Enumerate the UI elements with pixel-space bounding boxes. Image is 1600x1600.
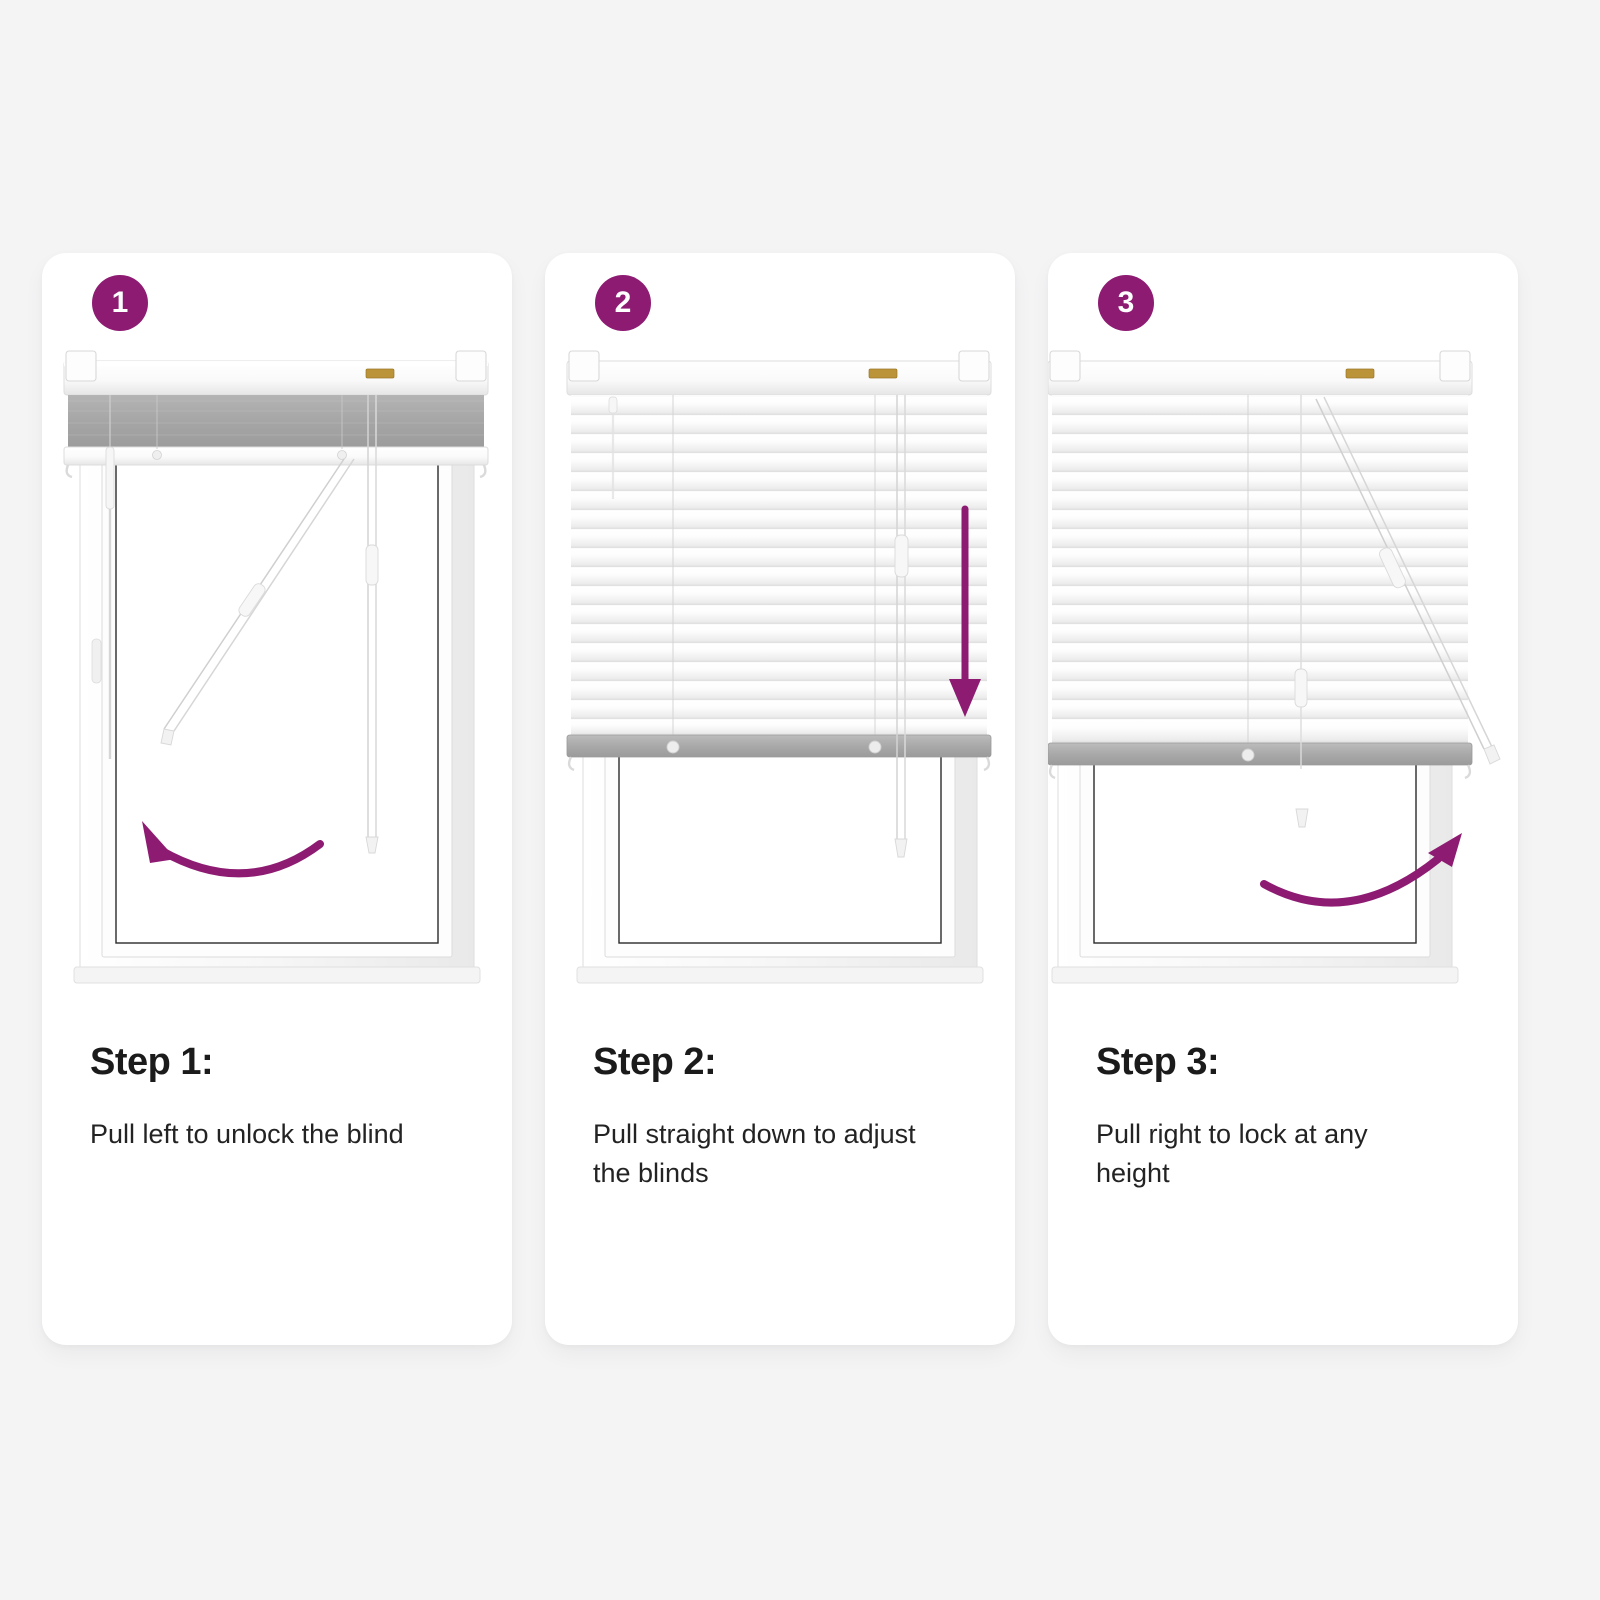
step-title-1: Step 1: (90, 1043, 482, 1083)
brand-label-2 (869, 369, 897, 378)
step-illustration-3 (1048, 339, 1518, 1017)
step-title-2: Step 2: (593, 1043, 985, 1083)
blind-headrail-2 (567, 351, 991, 395)
step-description-2: Pull straight down to adjust the blinds (593, 1115, 923, 1193)
blind-stack-raised-1 (64, 395, 488, 477)
step-card-2: 2 (545, 253, 1015, 1345)
brand-label-1 (366, 369, 394, 378)
step-badge-2: 2 (595, 275, 651, 331)
step-caption-3: Step 3: Pull right to lock at any height (1096, 1043, 1488, 1193)
window-handle-1 (92, 639, 101, 683)
step-caption-1: Step 1: Pull left to unlock the blind (90, 1043, 482, 1154)
step-illustration-2 (545, 339, 1015, 1017)
step-title-3: Step 3: (1096, 1043, 1488, 1083)
window-frame-1 (74, 413, 480, 983)
blind-headrail-3 (1048, 351, 1472, 395)
step-badge-1: 1 (92, 275, 148, 331)
step-description-1: Pull left to unlock the blind (90, 1115, 420, 1154)
brand-label-3 (1346, 369, 1374, 378)
step-illustration-1 (42, 339, 512, 1017)
blind-slats-3 (1048, 395, 1472, 778)
step-card-3: 3 (1048, 253, 1518, 1345)
step-caption-2: Step 2: Pull straight down to adjust the… (593, 1043, 985, 1193)
step-badge-3: 3 (1098, 275, 1154, 331)
step-card-1: 1 (42, 253, 512, 1345)
step-description-3: Pull right to lock at any height (1096, 1115, 1426, 1193)
blind-headrail-1 (64, 351, 488, 395)
blind-slats-2 (567, 395, 991, 770)
instruction-board: 1 (0, 0, 1600, 1600)
